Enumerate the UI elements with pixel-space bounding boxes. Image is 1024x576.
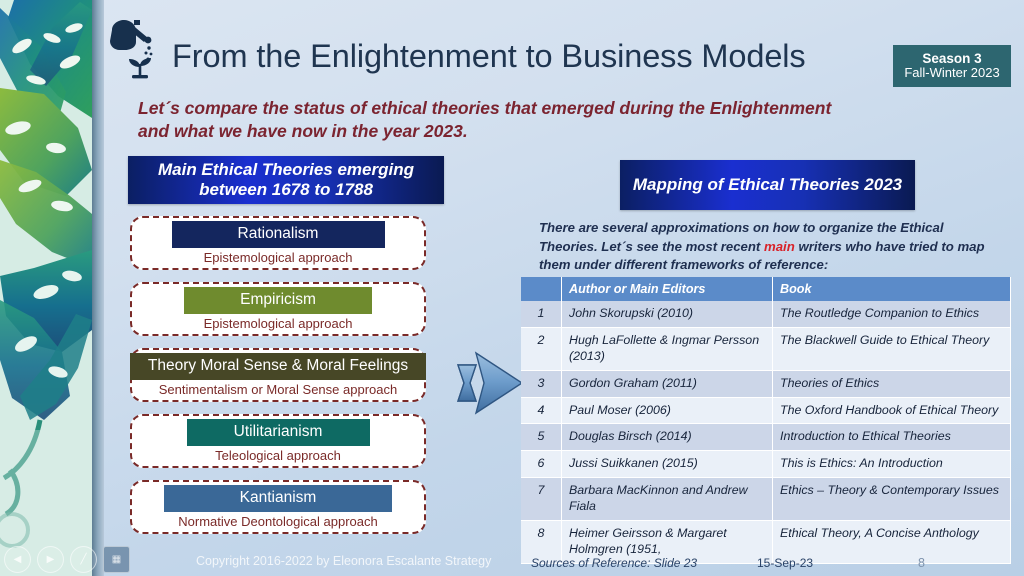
references-table: Author or Main Editors Book 1John Skorup… xyxy=(521,277,1011,564)
footer-copyright: Copyright 2016-2022 by Eleonora Escalant… xyxy=(196,554,491,568)
season-badge-line1: Season 3 xyxy=(922,51,981,66)
theory-name-chip: Utilitarianism xyxy=(187,419,370,445)
cell-number: 7 xyxy=(521,478,562,521)
cell-book: The Oxford Handbook of Ethical Theory xyxy=(773,397,1011,424)
pen-tool-button[interactable]: ╱ xyxy=(70,546,97,573)
season-badge: Season 3 Fall-Winter 2023 xyxy=(893,45,1011,87)
cell-author: Gordon Graham (2011) xyxy=(562,370,773,397)
previous-slide-button[interactable]: ◀ xyxy=(4,546,31,573)
theory-name-chip: Empiricism xyxy=(184,287,372,313)
watering-can-seedling-icon xyxy=(108,18,174,80)
right-arrow-icon xyxy=(452,345,528,421)
cell-author: John Skorupski (2010) xyxy=(562,301,773,327)
theory-card: RationalismEpistemological approach xyxy=(130,216,426,270)
viewer-controls[interactable]: ◀ ▶ ╱ ▦ xyxy=(4,546,130,573)
theory-card: Theory Moral Sense & Moral FeelingsSenti… xyxy=(130,348,426,402)
cell-number: 5 xyxy=(521,424,562,451)
table-row: 3Gordon Graham (2011)Theories of Ethics xyxy=(521,370,1011,397)
cell-book: Ethics – Theory & Contemporary Issues xyxy=(773,478,1011,521)
cell-number: 3 xyxy=(521,370,562,397)
table-row: 7Barbara MacKinnon and Andrew FialaEthic… xyxy=(521,478,1011,521)
table-row: 6Jussi Suikkanen (2015)This is Ethics: A… xyxy=(521,451,1011,478)
cell-author: Douglas Birsch (2014) xyxy=(562,424,773,451)
slide-canvas: ◀ ▶ ╱ ▦ From the Enlightenme xyxy=(0,0,1024,576)
season-badge-line2: Fall-Winter 2023 xyxy=(904,66,999,81)
cell-author: Barbara MacKinnon and Andrew Fiala xyxy=(562,478,773,521)
table-header-author: Author or Main Editors xyxy=(562,277,773,301)
right-column-intro: There are several approximations on how … xyxy=(539,219,994,275)
cell-number: 2 xyxy=(521,327,562,370)
footer-date: 15-Sep-23 xyxy=(757,556,813,570)
theory-name-chip: Rationalism xyxy=(172,221,385,247)
theory-approach-label: Epistemological approach xyxy=(204,250,353,265)
strip-divider xyxy=(92,0,104,576)
cell-number: 1 xyxy=(521,301,562,327)
monstera-leaf-illustration xyxy=(0,0,92,576)
cell-author: Jussi Suikkanen (2015) xyxy=(562,451,773,478)
grid-view-button[interactable]: ▦ xyxy=(103,546,130,573)
table-header-book: Book xyxy=(773,277,1011,301)
theory-name-chip: Kantianism xyxy=(164,485,392,511)
table-row: 5Douglas Birsch (2014)Introduction to Et… xyxy=(521,424,1011,451)
next-slide-button[interactable]: ▶ xyxy=(37,546,64,573)
cell-book: Introduction to Ethical Theories xyxy=(773,424,1011,451)
theory-approach-label: Teleological approach xyxy=(215,448,341,463)
cell-author: Hugh LaFollette & Ingmar Persson (2013) xyxy=(562,327,773,370)
table-header-number xyxy=(521,277,562,301)
footer-page-number: 8 xyxy=(918,556,925,570)
theory-list: RationalismEpistemological approachEmpir… xyxy=(130,216,430,546)
cell-book: This is Ethics: An Introduction xyxy=(773,451,1011,478)
left-column-header: Main Ethical Theories emerging between 1… xyxy=(128,156,444,204)
table-row: 4Paul Moser (2006)The Oxford Handbook of… xyxy=(521,397,1011,424)
right-column-header: Mapping of Ethical Theories 2023 xyxy=(620,160,915,210)
page-title: From the Enlightenment to Business Model… xyxy=(172,38,806,75)
cell-number: 6 xyxy=(521,451,562,478)
intro-highlight-word: main xyxy=(764,239,795,254)
theory-card: KantianismNormative Deontological approa… xyxy=(130,480,426,534)
footer-sources: Sources of Reference: Slide 23 xyxy=(531,556,697,570)
theory-approach-label: Sentimentalism or Moral Sense approach xyxy=(159,382,397,397)
theory-approach-label: Normative Deontological approach xyxy=(178,514,377,529)
theory-card: EmpiricismEpistemological approach xyxy=(130,282,426,336)
theory-name-chip: Theory Moral Sense & Moral Feelings xyxy=(130,353,426,379)
table-header-row: Author or Main Editors Book xyxy=(521,277,1011,301)
table-row: 1John Skorupski (2010)The Routledge Comp… xyxy=(521,301,1011,327)
cell-book: The Routledge Companion to Ethics xyxy=(773,301,1011,327)
slide-subtitle: Let´s compare the status of ethical theo… xyxy=(138,97,858,143)
theory-approach-label: Epistemological approach xyxy=(204,316,353,331)
cell-number: 4 xyxy=(521,397,562,424)
cell-book: The Blackwell Guide to Ethical Theory xyxy=(773,327,1011,370)
theory-card: UtilitarianismTeleological approach xyxy=(130,414,426,468)
cell-author: Paul Moser (2006) xyxy=(562,397,773,424)
table-row: 2Hugh LaFollette & Ingmar Persson (2013)… xyxy=(521,327,1011,370)
cell-book: Theories of Ethics xyxy=(773,370,1011,397)
